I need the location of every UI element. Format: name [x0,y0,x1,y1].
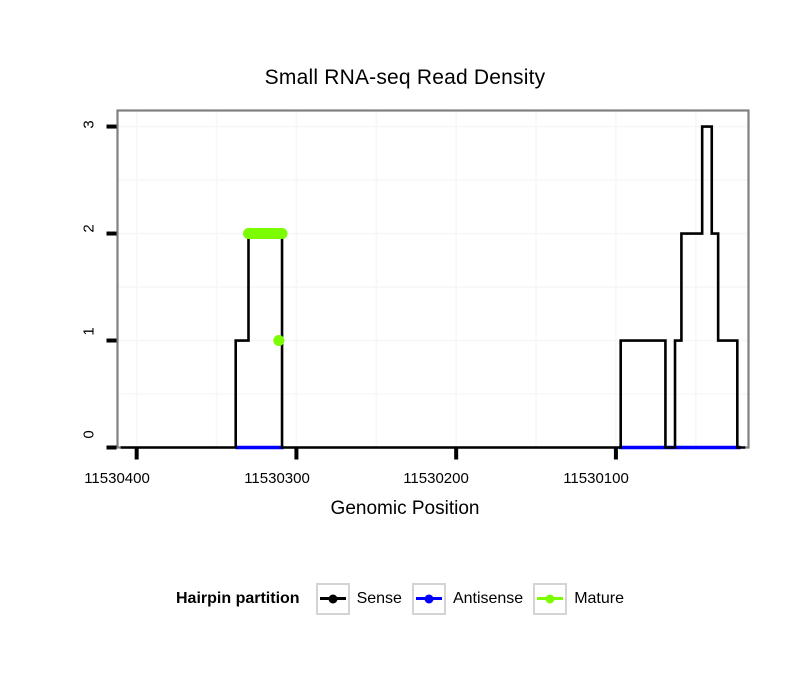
chart-figure: Small RNA-seq Read Density Total Reads G… [0,0,810,690]
axis-ticks [107,127,616,460]
series-mature [248,234,284,346]
legend-label-mature: Mature [574,590,624,608]
legend-title: Hairpin partition [176,590,300,608]
legend-label-sense: Sense [357,590,402,608]
legend: Hairpin partition Sense Antisense Mature [0,583,810,615]
legend-item-sense[interactable]: Sense [316,583,402,615]
legend-key-sense-icon [316,583,350,615]
legend-item-mature[interactable]: Mature [533,583,624,615]
plot-box [118,111,749,448]
legend-label-antisense: Antisense [453,590,523,608]
legend-key-mature-icon [533,583,567,615]
gridlines [118,111,749,448]
legend-key-antisense-icon [412,583,446,615]
legend-item-antisense[interactable]: Antisense [412,583,523,615]
